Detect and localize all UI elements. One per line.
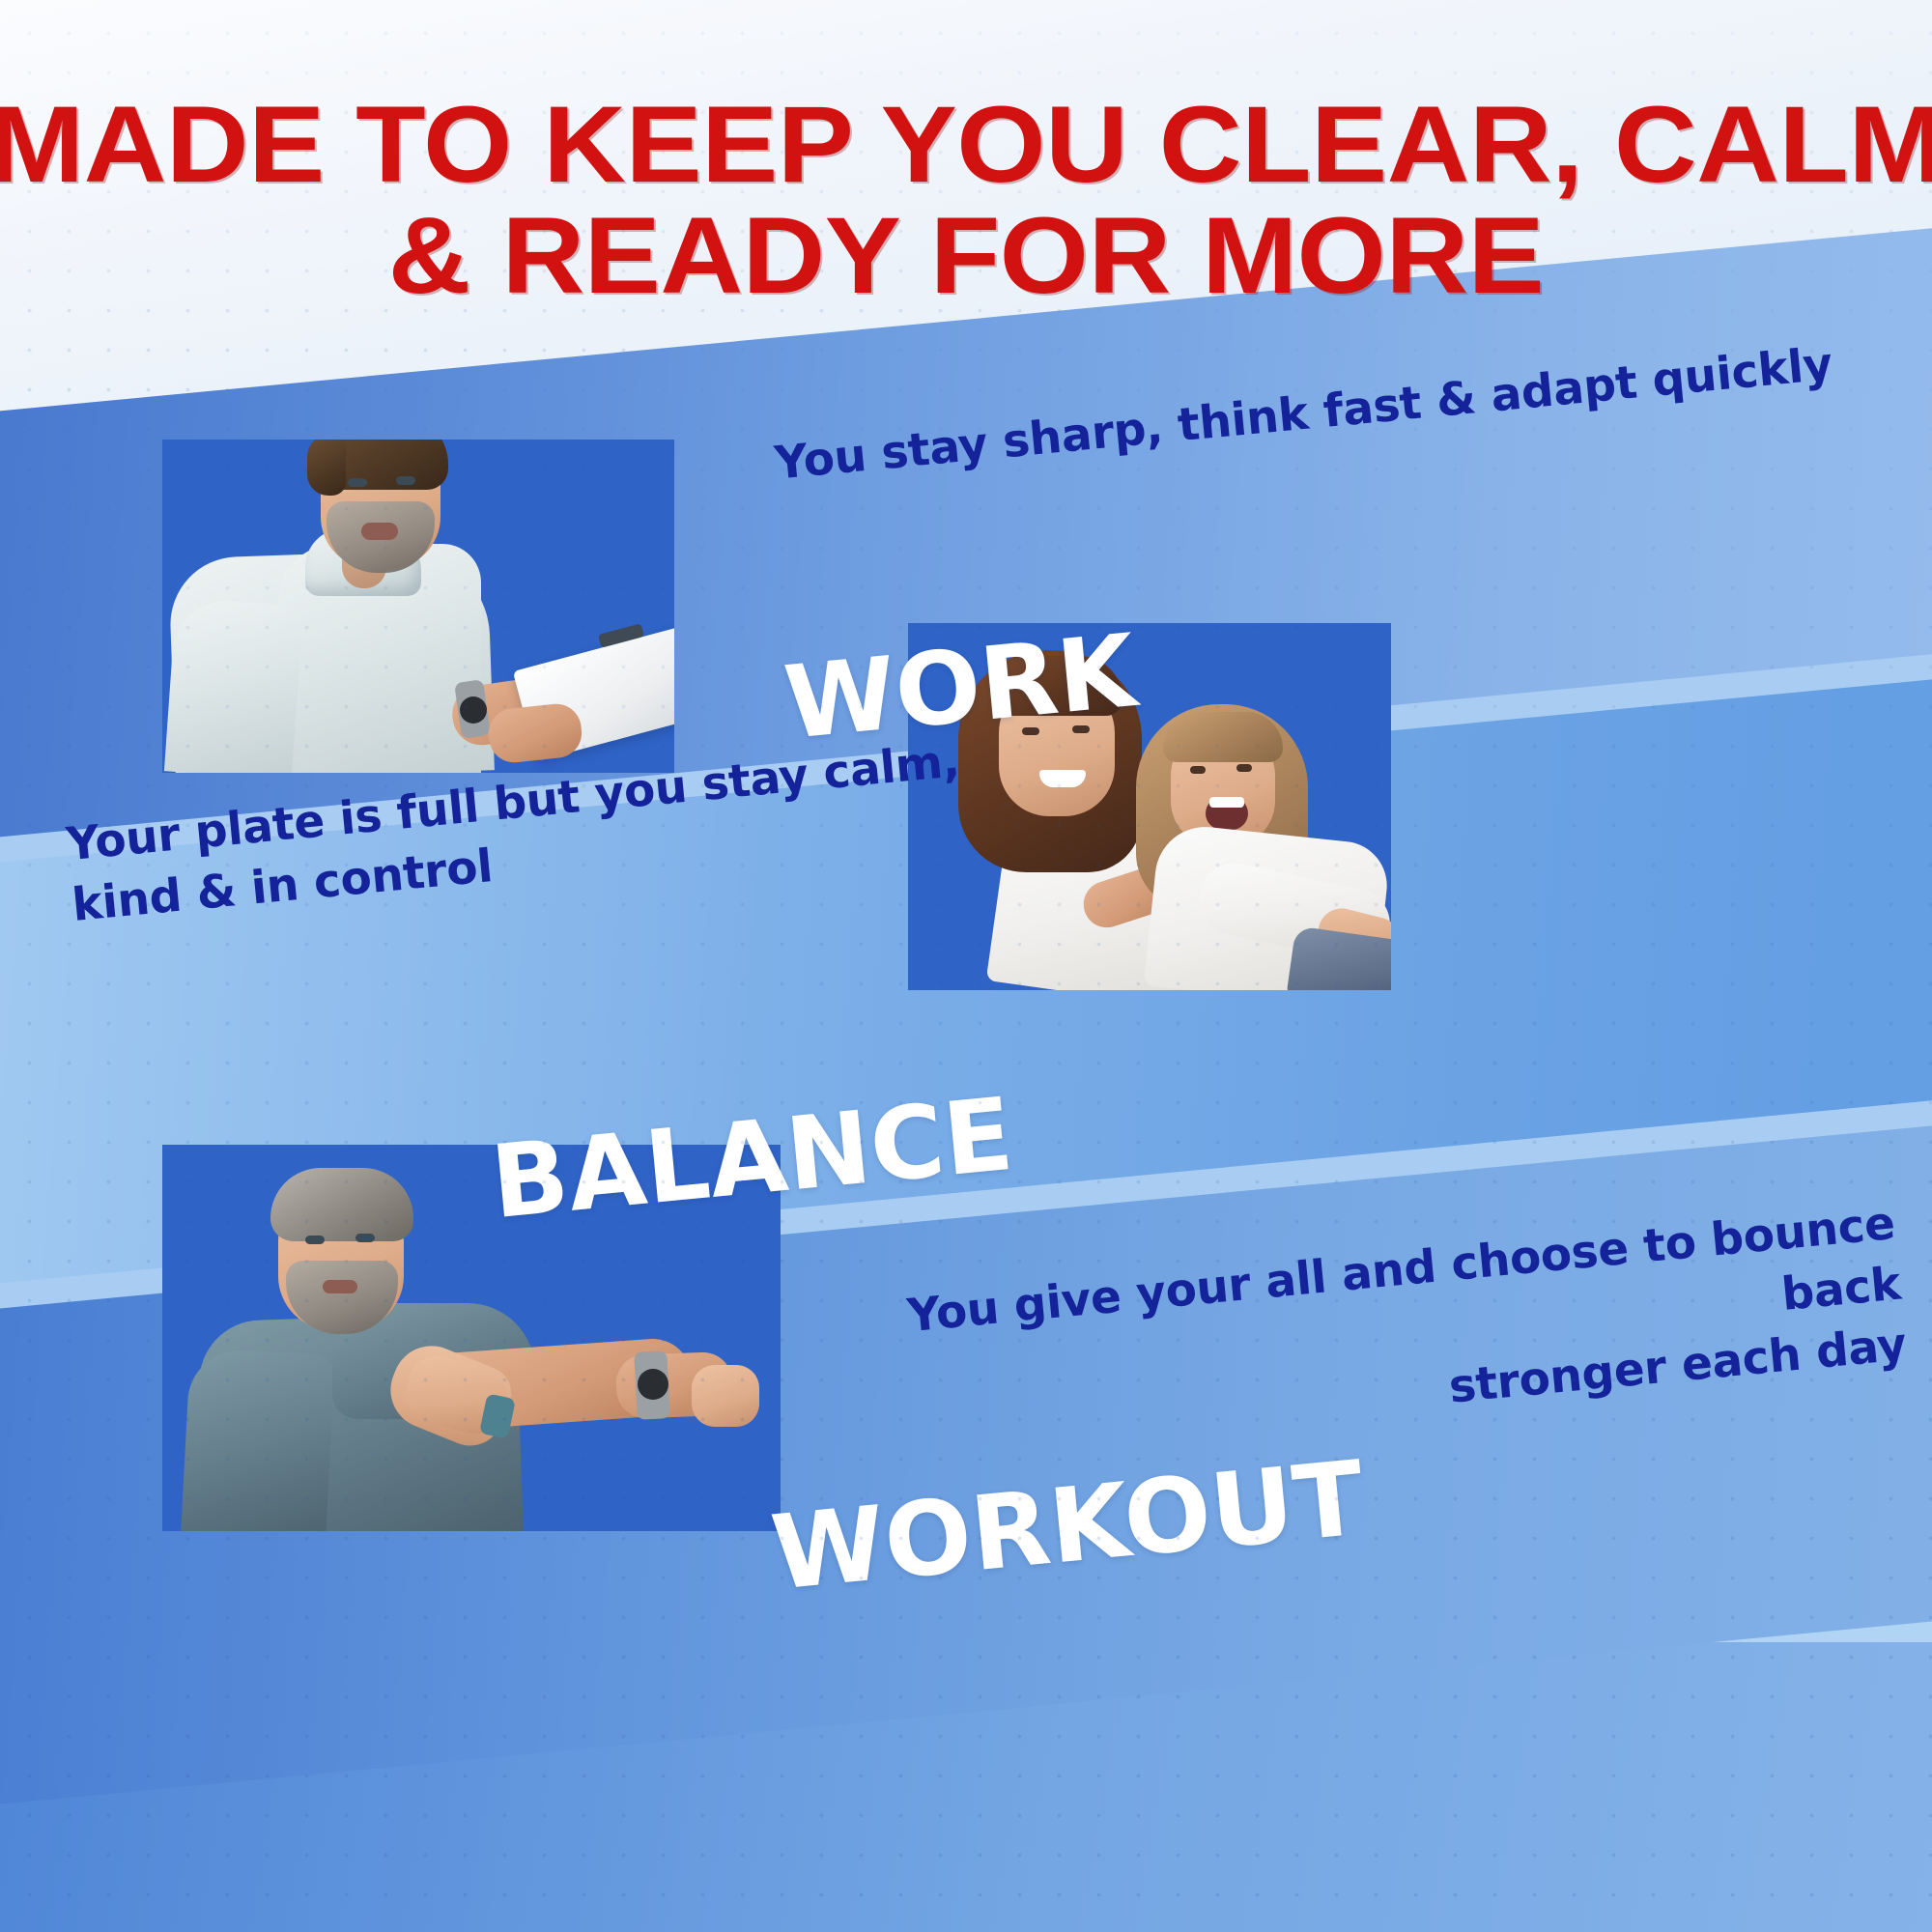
- headline-line-1: MADE TO KEEP YOU CLEAR, CALM: [0, 84, 1932, 205]
- poster-canvas: MADE TO KEEP YOU CLEAR, CALM & READY FOR…: [0, 0, 1932, 1932]
- photo-man-with-clipboard: [162, 440, 674, 773]
- headline-line-2: & READY FOR MORE: [0, 200, 1932, 311]
- page-title: MADE TO KEEP YOU CLEAR, CALM & READY FOR…: [0, 89, 1932, 312]
